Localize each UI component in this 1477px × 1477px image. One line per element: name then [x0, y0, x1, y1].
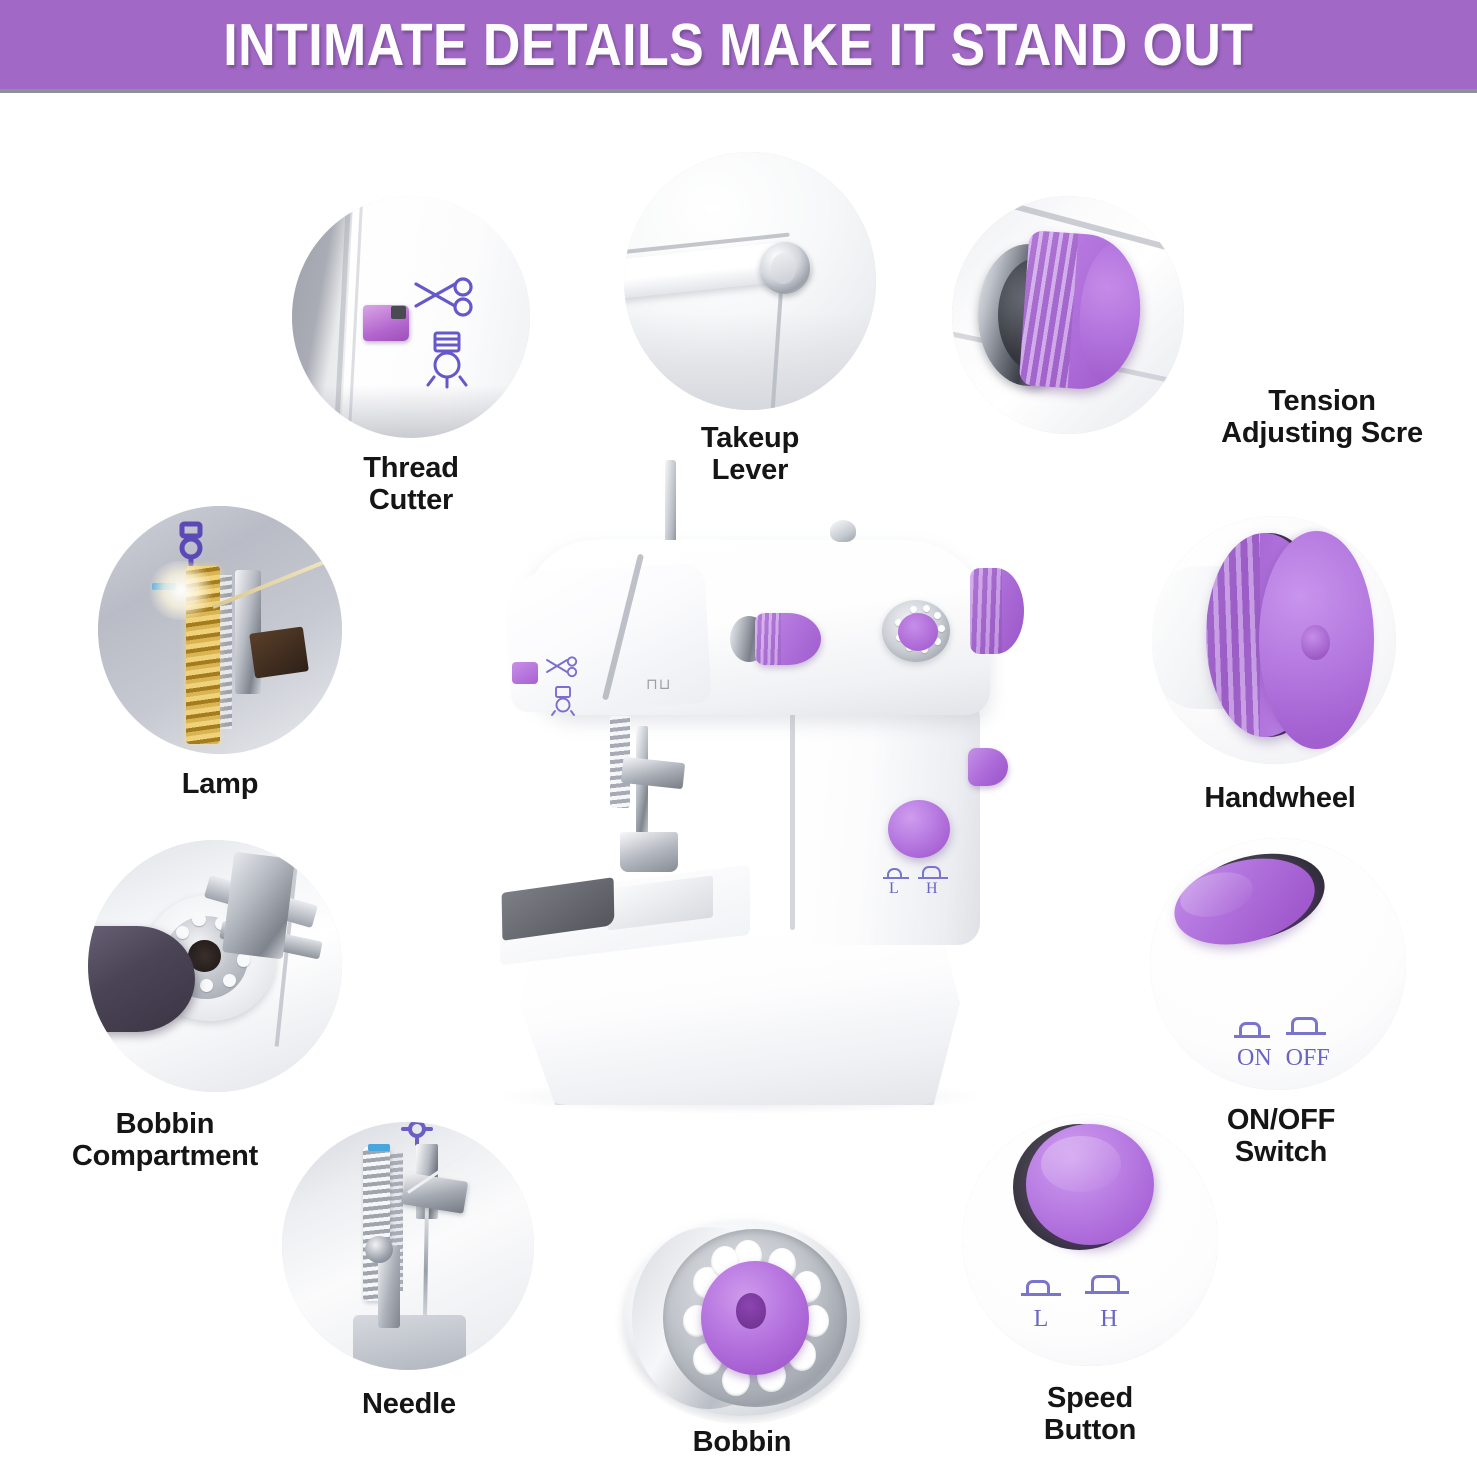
- header-banner: INTIMATE DETAILS MAKE IT STAND OUT: [0, 0, 1477, 93]
- lamp-icon: [548, 685, 578, 719]
- label-lamp: Lamp: [182, 768, 259, 800]
- lamp-icon: [418, 329, 476, 391]
- label-on-off-switch: ON/OFF Switch: [1227, 1104, 1335, 1169]
- label-speed-button: Speed Button: [1044, 1382, 1136, 1447]
- bobbin-compartment-photo: [88, 840, 342, 1092]
- speed-low-label: L: [1034, 1306, 1049, 1333]
- machine-power-switch: [968, 748, 1008, 786]
- lamp-icon: [400, 1122, 434, 1146]
- speed-knob: [1026, 1124, 1154, 1245]
- lamp-icon: [171, 521, 211, 567]
- scissors-icon: [411, 276, 475, 318]
- on-off-switch-photo: ON OFF: [1150, 838, 1406, 1090]
- machine-needle-bar: [636, 726, 648, 846]
- thread-cutter-photo: [292, 196, 530, 438]
- switch-high-icon: [918, 866, 948, 880]
- switch-off-icon: [1286, 1017, 1326, 1037]
- switch-on-label: ON: [1237, 1045, 1272, 1072]
- switch-on-icon: [1234, 1022, 1270, 1040]
- label-bobbin-compartment: Bobbin Compartment: [15, 1108, 315, 1173]
- machine-speed-button: [888, 800, 950, 858]
- label-bobbin: Bobbin: [693, 1426, 792, 1458]
- machine-speed-high-label: H: [926, 880, 938, 898]
- page-title: INTIMATE DETAILS MAKE IT STAND OUT: [223, 11, 1253, 79]
- tension-knob: [1019, 230, 1146, 392]
- takeup-lever-photo: [624, 152, 876, 410]
- infographic-canvas: INTIMATE DETAILS MAKE IT STAND OUT: [0, 0, 1477, 1477]
- switch-low-icon: [1021, 1280, 1061, 1298]
- label-handwheel: Handwheel: [1204, 782, 1355, 814]
- switch-low-icon: [883, 868, 909, 880]
- needle-photo: [282, 1122, 534, 1370]
- speed-button-photo: L H: [962, 1114, 1218, 1366]
- switch-high-icon: [1085, 1275, 1129, 1295]
- tension-screw-photo: [952, 196, 1184, 434]
- label-needle: Needle: [362, 1388, 456, 1420]
- label-thread-cutter: Thread Cutter: [363, 452, 459, 517]
- bobbin-photo: [614, 1212, 870, 1424]
- scissors-icon: [544, 656, 578, 678]
- lamp-light-glow: [147, 561, 215, 621]
- lamp-photo: [98, 506, 342, 754]
- speed-high-label: H: [1100, 1306, 1117, 1333]
- machine-tension-knob: [755, 613, 821, 665]
- machine-base: [520, 935, 960, 1105]
- machine-head-marking: ⊓⊔: [646, 675, 671, 694]
- handwheel-photo: [1152, 516, 1396, 764]
- machine-speed-low-label: L: [889, 880, 899, 898]
- label-takeup-lever: Takeup Lever: [701, 422, 799, 487]
- switch-off-label: OFF: [1286, 1045, 1330, 1072]
- machine-presser-foot: [620, 832, 678, 872]
- label-tension-adjusting: Tension Adjusting Scre: [1172, 385, 1472, 450]
- machine-thread-cutter-tab: [512, 662, 538, 684]
- bobbin-cover: [88, 926, 195, 1032]
- takeup-lever-eyelet: [760, 242, 810, 294]
- machine-handwheel: [970, 568, 1024, 654]
- thread-cutter-tab: [363, 305, 408, 341]
- machine-pillar: [790, 680, 980, 945]
- product-image-sewing-machine: ⊓⊔ L H: [490, 480, 1000, 1130]
